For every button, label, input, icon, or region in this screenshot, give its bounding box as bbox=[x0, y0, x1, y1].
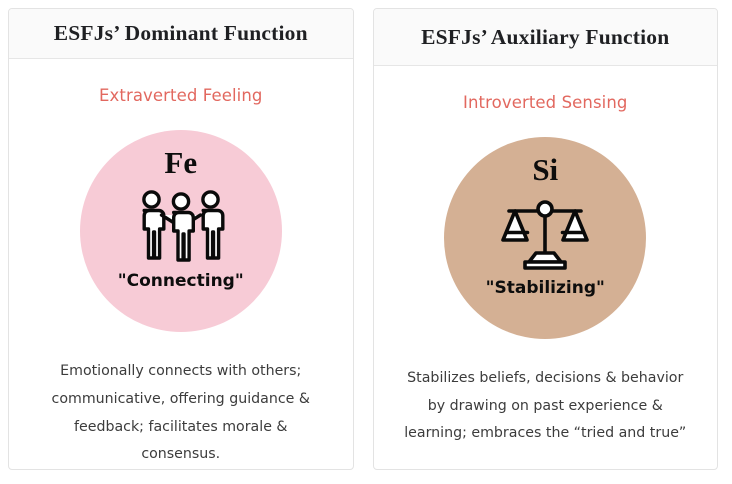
card-dominant-function: ESFJs’ Dominant Function Extraverted Fee… bbox=[8, 8, 354, 470]
three-people-linked-icon bbox=[131, 185, 231, 267]
function-cards-container: ESFJs’ Dominant Function Extraverted Fee… bbox=[0, 0, 732, 484]
function-name-dominant: Extraverted Feeling bbox=[99, 86, 262, 105]
balance-scale-icon bbox=[499, 192, 591, 274]
card-auxiliary-function: ESFJs’ Auxiliary Function Introverted Se… bbox=[373, 8, 719, 470]
function-code-dominant: Fe bbox=[164, 147, 197, 178]
page-title-dominant: ESFJs’ Dominant Function bbox=[54, 21, 308, 46]
card-header-auxiliary: ESFJs’ Auxiliary Function bbox=[374, 9, 718, 66]
function-keyword-dominant: "Connecting" bbox=[118, 273, 244, 290]
function-badge-dominant: Fe bbox=[80, 130, 282, 332]
function-description-auxiliary: Stabilizes beliefs, decisions & behavior… bbox=[399, 365, 691, 448]
function-badge-auxiliary: Si bbox=[444, 137, 646, 339]
card-body-dominant: Extraverted Feeling Fe bbox=[9, 59, 353, 469]
card-body-auxiliary: Introverted Sensing Si bbox=[374, 66, 718, 469]
function-code-auxiliary: Si bbox=[532, 154, 558, 185]
card-header-dominant: ESFJs’ Dominant Function bbox=[9, 9, 353, 59]
function-description-dominant: Emotionally connects with others; commun… bbox=[35, 358, 327, 469]
page-title-auxiliary: ESFJs’ Auxiliary Function bbox=[421, 25, 669, 50]
function-keyword-auxiliary: "Stabilizing" bbox=[486, 280, 605, 297]
function-name-auxiliary: Introverted Sensing bbox=[463, 93, 627, 112]
